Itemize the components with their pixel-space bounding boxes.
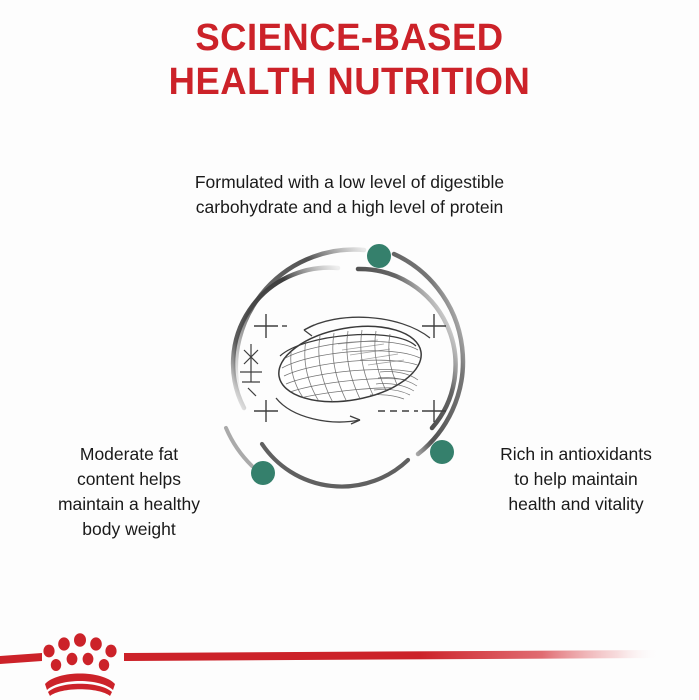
footer-bar-right [124, 650, 660, 661]
royal-canin-crown-logo [43, 633, 116, 696]
benefit-text-right: Rich in antioxidants to help maintain he… [460, 442, 692, 517]
page-title-line-2: HEALTH NUTRITION [14, 60, 685, 104]
page-title: SCIENCE-BASED HEALTH NUTRITION [0, 16, 699, 104]
crown-mid-dot-1 [51, 659, 61, 671]
dimension-annotations [240, 344, 262, 396]
benefit-left-line-1: Moderate fat [18, 442, 240, 467]
product-feature-panel: SCIENCE-BASED HEALTH NUTRITION Formulate… [0, 0, 699, 700]
benefit-left-line-4: body weight [18, 517, 240, 542]
benefit-text-left: Moderate fat content helps maintain a he… [18, 442, 240, 542]
crown-mid-dot-2 [67, 653, 78, 665]
benefit-right-line-2: to help maintain [460, 467, 692, 492]
crown-mid-dot-4 [99, 659, 109, 671]
marker-bottom-right-dot [430, 440, 454, 464]
crown-top-dot-3 [74, 633, 86, 647]
marker-bottom-left-dot [251, 461, 275, 485]
crown-top-dot-5 [105, 645, 116, 658]
benefit-left-line-3: maintain a healthy [18, 492, 240, 517]
benefit-top-line-2: carbohydrate and a high level of protein [0, 195, 699, 220]
kibble-diagram [218, 222, 482, 494]
kibble-sketch [240, 314, 446, 424]
footer-brand-bar [0, 620, 699, 700]
benefit-right-line-1: Rich in antioxidants [460, 442, 692, 467]
benefit-text-top: Formulated with a low level of digestibl… [0, 170, 699, 220]
crown-base-arc-inner [48, 684, 112, 696]
rotation-arrow-bottom [276, 398, 360, 424]
kibble-body [273, 316, 427, 412]
crown-top-dot-4 [90, 637, 102, 650]
benefit-top-line-1: Formulated with a low level of digestibl… [0, 170, 699, 195]
crown-top-dot-1 [43, 645, 54, 658]
benefit-right-line-3: health and vitality [460, 492, 692, 517]
page-title-line-1: SCIENCE-BASED [14, 16, 685, 60]
footer-bar-left [0, 653, 42, 664]
marker-top-right-dot [367, 244, 391, 268]
benefit-left-line-2: content helps [18, 467, 240, 492]
crown-mid-dot-3 [83, 653, 94, 665]
crown-top-dot-2 [58, 637, 70, 650]
